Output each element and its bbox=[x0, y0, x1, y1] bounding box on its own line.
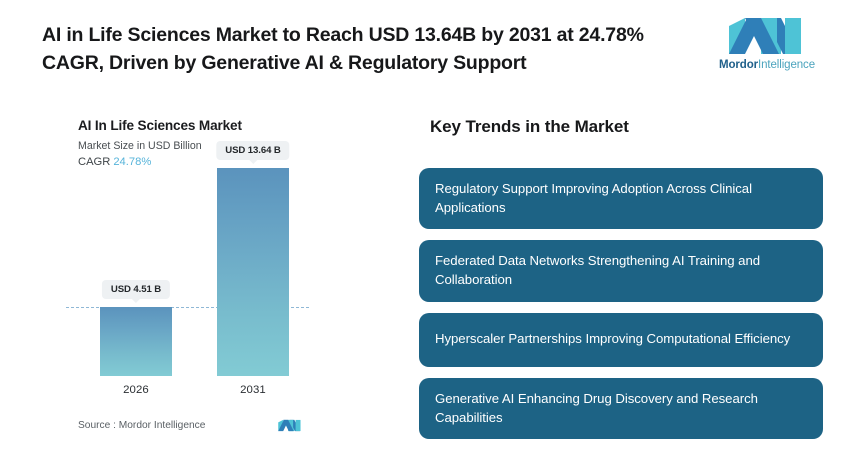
trend-card[interactable]: Hyperscaler Partnerships Improving Compu… bbox=[419, 313, 823, 367]
trend-card-text: Hyperscaler Partnerships Improving Compu… bbox=[435, 329, 790, 348]
cagr-label: CAGR bbox=[78, 156, 110, 168]
brand-wordmark: MordorIntelligence bbox=[719, 59, 815, 71]
trend-card[interactable]: Generative AI Enhancing Drug Discovery a… bbox=[419, 378, 823, 439]
infographic-page: AI in Life Sciences Market to Reach USD … bbox=[0, 0, 860, 461]
chart-panel: AI In Life Sciences Market Market Size i… bbox=[0, 92, 400, 461]
bar-2031 bbox=[217, 168, 289, 376]
trends-heading: Key Trends in the Market bbox=[430, 117, 629, 137]
brand-name-bold: Mordor bbox=[719, 59, 758, 71]
trend-card-text: Federated Data Networks Strengthening AI… bbox=[435, 251, 807, 289]
mordor-logo-icon bbox=[725, 16, 809, 56]
trend-card-text: Generative AI Enhancing Drug Discovery a… bbox=[435, 389, 807, 427]
page-title: AI in Life Sciences Market to Reach USD … bbox=[42, 22, 682, 77]
source-row: Source : Mordor Intelligence bbox=[78, 418, 313, 438]
header: AI in Life Sciences Market to Reach USD … bbox=[0, 0, 860, 92]
bar-chart-plot-area: USD 4.51 B USD 13.64 B bbox=[78, 168, 313, 376]
x-axis-tick-2031: 2031 bbox=[217, 384, 289, 396]
chart-title: AI In Life Sciences Market bbox=[78, 118, 242, 133]
trend-list: Regulatory Support Improving Adoption Ac… bbox=[419, 168, 823, 439]
bar-value-label-2026: USD 4.51 B bbox=[102, 280, 170, 299]
brand-logo: MordorIntelligence bbox=[702, 16, 832, 80]
bar-2026 bbox=[100, 307, 172, 376]
trend-card[interactable]: Regulatory Support Improving Adoption Ac… bbox=[419, 168, 823, 229]
cagr-value: 24.78% bbox=[113, 156, 151, 168]
chart-subtitle: Market Size in USD Billion bbox=[78, 140, 202, 152]
brand-name-light: Intelligence bbox=[758, 59, 815, 71]
trend-card[interactable]: Federated Data Networks Strengthening AI… bbox=[419, 240, 823, 301]
bar-value-label-2031: USD 13.64 B bbox=[216, 141, 289, 160]
source-text: Source : Mordor Intelligence bbox=[78, 420, 205, 431]
mordor-logo-small-icon bbox=[277, 418, 303, 433]
chart-cagr: CAGR24.78% bbox=[78, 156, 151, 168]
trends-panel: Key Trends in the Market Regulatory Supp… bbox=[400, 92, 860, 461]
trend-card-text: Regulatory Support Improving Adoption Ac… bbox=[435, 179, 807, 217]
x-axis-tick-2026: 2026 bbox=[100, 384, 172, 396]
